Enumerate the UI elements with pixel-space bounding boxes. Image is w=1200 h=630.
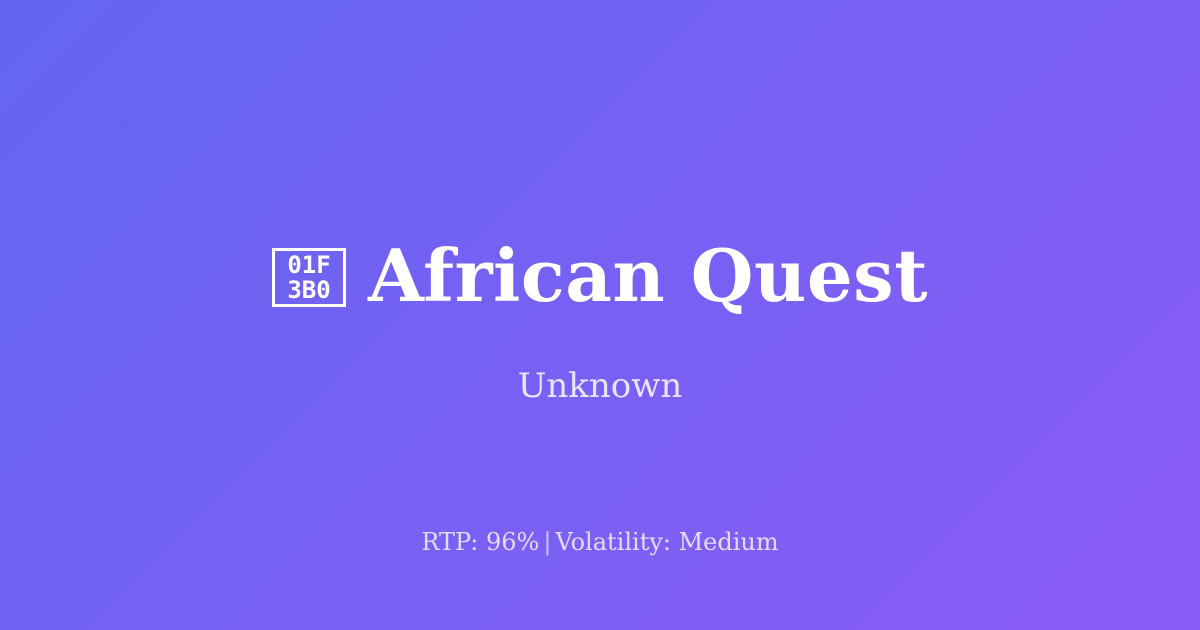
stats-separator: | — [539, 528, 555, 556]
slot-machine-icon: 01F 3B0 — [272, 248, 346, 307]
game-stats: RTP: 96%|Volatility: Medium — [0, 528, 1200, 557]
codepoint-high: 01F — [287, 252, 330, 277]
codepoint-low: 3B0 — [287, 277, 330, 302]
volatility-stat: Volatility: Medium — [555, 528, 778, 556]
title-row: 01F 3B0 African Quest — [0, 236, 1200, 316]
game-provider: Unknown — [0, 366, 1200, 407]
game-share-card: 01F 3B0 African Quest Unknown RTP: 96%|V… — [0, 0, 1200, 630]
game-title: African Quest — [368, 240, 928, 312]
rtp-stat: RTP: 96% — [421, 528, 539, 556]
